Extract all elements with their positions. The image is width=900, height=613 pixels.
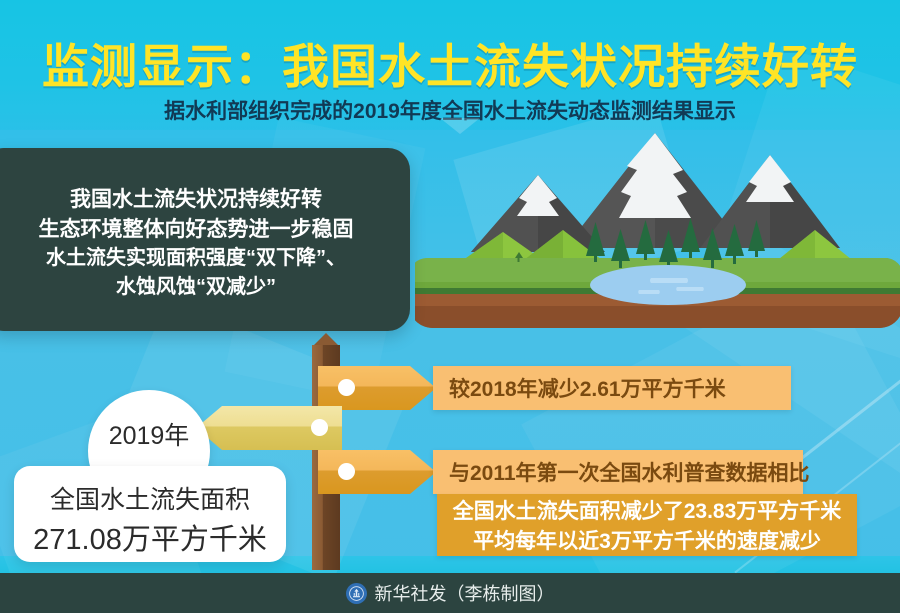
metric-value: 271.08万平方千米 xyxy=(14,516,286,558)
statement-line-4: 水蚀风蚀“双减少” xyxy=(116,273,276,301)
signpost-arrow-right-top xyxy=(318,366,436,410)
arrow-body xyxy=(318,450,436,494)
metric-card: 全国水土流失面积 271.08万平方千米 xyxy=(14,466,286,562)
arrow-bolt-icon xyxy=(338,379,355,396)
callout-compare-2011: 与2011年第一次全国水利普查数据相比 xyxy=(433,450,803,494)
footer: 新华社发（李栋制图） xyxy=(0,573,900,613)
callout-detail-line-2: 平均每年以近3万平方千米的速度减少 xyxy=(437,527,857,557)
statement-line-3: 水土流失实现面积强度“双下降”、 xyxy=(46,244,346,272)
mountain-landscape-illustration xyxy=(415,130,900,345)
page-title: 监测显示：我国水土流失状况持续好转 xyxy=(0,28,900,97)
arrow-bolt-icon xyxy=(338,463,355,480)
statement-line-2: 生态环境整体向好态势进一步稳固 xyxy=(39,215,354,245)
xinhua-logo-icon xyxy=(346,583,367,604)
footer-text: 新华社发（李栋制图） xyxy=(375,580,555,606)
callout-compare-2018: 较2018年减少2.61万平方千米 xyxy=(433,366,791,410)
infographic-poster: 监测显示：我国水土流失状况持续好转 据水利部组织完成的2019年度全国水土流失动… xyxy=(0,0,900,613)
statement-panel-text: 我国水土流失状况持续好转 生态环境整体向好态势进一步稳固 水土流失实现面积强度“… xyxy=(0,158,410,328)
arrow-body xyxy=(318,366,436,410)
arrow-bolt-icon xyxy=(311,419,328,436)
signpost-arrow-left xyxy=(196,406,342,450)
callout-detail-line-1: 全国水土流失面积减少了23.83万平方千米 xyxy=(437,497,857,527)
statement-line-1: 我国水土流失状况持续好转 xyxy=(70,185,322,215)
metric-label: 全国水土流失面积 xyxy=(14,480,286,516)
callout-detail-box: 全国水土流失面积减少了23.83万平方千米 平均每年以近3万平方千米的速度减少 xyxy=(437,494,857,556)
signpost-arrow-right-bottom xyxy=(318,450,436,494)
year-badge-label: 2019年 xyxy=(88,416,210,452)
